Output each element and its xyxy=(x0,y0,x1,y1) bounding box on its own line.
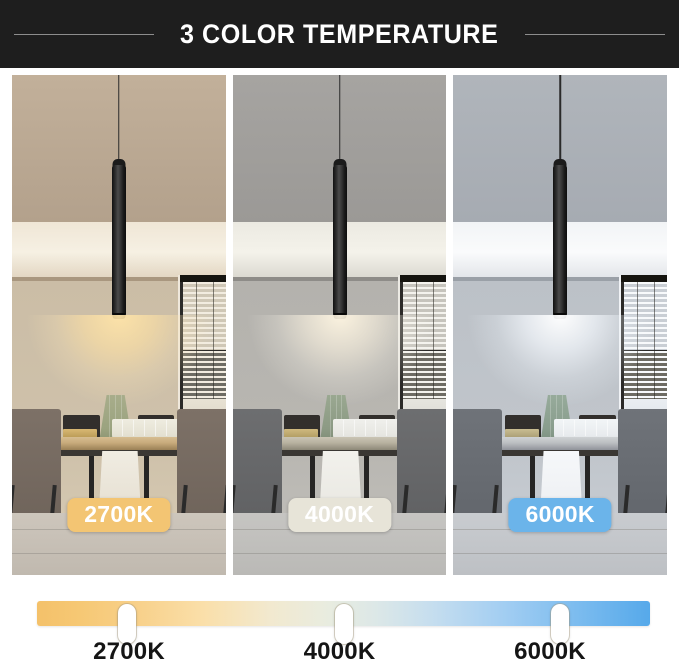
header-rule-left-icon xyxy=(14,34,154,35)
lamp-tip xyxy=(112,313,125,319)
window-header xyxy=(621,275,667,282)
lamp-cord xyxy=(559,75,561,161)
blind-cord xyxy=(213,282,214,400)
dining-table xyxy=(496,437,628,450)
badge-4000k[interactable]: 4000K xyxy=(288,498,391,532)
blinds-upper xyxy=(403,282,446,350)
badge-label: 6000K xyxy=(526,501,595,527)
header-rule-right-icon xyxy=(525,34,665,35)
lamp-cord xyxy=(118,75,120,161)
panel-cool-white[interactable]: 6000K xyxy=(453,75,667,575)
pendant-lamp-icon xyxy=(333,165,347,317)
slider-label-6000k: 6000K xyxy=(514,638,586,666)
pendant-lamp-icon xyxy=(112,165,126,317)
lamp-tip xyxy=(333,313,346,319)
window-header xyxy=(400,275,446,282)
pendant-lamp-icon xyxy=(553,165,567,317)
dining-table xyxy=(275,437,407,450)
page-header: 3 COLOR TEMPERATURE xyxy=(0,0,679,68)
badge-label: 4000K xyxy=(305,501,374,527)
lamp-cord xyxy=(339,75,341,161)
blinds-upper xyxy=(183,282,226,350)
slider-label-4000k: 4000K xyxy=(304,638,376,666)
color-temperature-slider[interactable]: 2700K 4000K 6000K xyxy=(0,590,679,665)
page-title: 3 COLOR TEMPERATURE xyxy=(180,19,498,50)
blinds-upper xyxy=(624,282,667,350)
dining-scene xyxy=(453,385,667,575)
blind-cord xyxy=(654,282,655,400)
blind-cord xyxy=(637,282,638,400)
blind-cord xyxy=(196,282,197,400)
dining-scene xyxy=(233,385,447,575)
badge-6000k[interactable]: 6000K xyxy=(509,498,612,532)
badge-label: 2700K xyxy=(84,501,153,527)
blind-cord xyxy=(416,282,417,400)
panel-natural-white[interactable]: 4000K xyxy=(233,75,447,575)
color-temperature-panel-row: 2700K xyxy=(12,75,667,575)
window-header xyxy=(180,275,226,282)
badge-2700k[interactable]: 2700K xyxy=(67,498,170,532)
panel-warm-white[interactable]: 2700K xyxy=(12,75,226,575)
dining-table xyxy=(55,437,187,450)
slider-label-row: 2700K 4000K 6000K xyxy=(0,638,679,665)
lamp-tip xyxy=(554,313,567,319)
dining-scene xyxy=(12,385,226,575)
slider-label-2700k: 2700K xyxy=(93,638,165,666)
blind-cord xyxy=(433,282,434,400)
slider-track[interactable] xyxy=(37,601,650,626)
